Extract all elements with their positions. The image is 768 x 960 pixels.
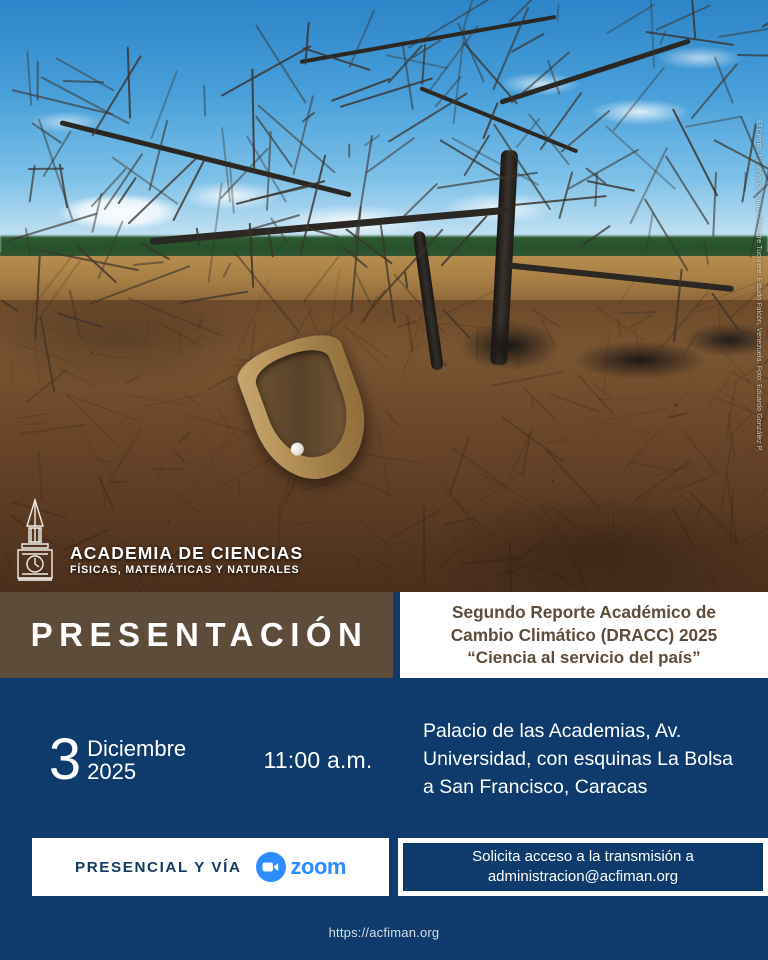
attendance-row: PRESENCIAL Y VÍA zoom Solicita acceso a … xyxy=(0,838,768,900)
access-request-email[interactable]: administracion@acfiman.org xyxy=(488,867,678,887)
academy-logo: ACADEMIA DE CIENCIAS FÍSICAS, MATEMÁTICA… xyxy=(8,498,303,582)
academy-building-logo-icon xyxy=(8,498,62,582)
academy-logo-line2: FÍSICAS, MATEMÁTICAS Y NATURALES xyxy=(70,564,303,576)
website-url[interactable]: https://acfiman.org xyxy=(329,925,440,940)
attendance-mode-box: PRESENCIAL Y VÍA zoom xyxy=(32,838,389,896)
tree-twig xyxy=(37,61,39,101)
attendance-mode-label: PRESENCIAL Y VÍA xyxy=(75,859,242,876)
footer: https://acfiman.org xyxy=(0,905,768,960)
zoom-logo[interactable]: zoom xyxy=(256,852,346,882)
access-request-box[interactable]: Solicita acceso a la transmisión a admin… xyxy=(403,843,763,891)
event-date: 3 Diciembre 2025 xyxy=(49,736,186,784)
mangrove-root-mass xyxy=(430,300,760,420)
event-time-cell: 11:00 a.m. xyxy=(243,686,393,834)
event-day: 3 xyxy=(49,736,80,784)
event-date-cell: 3 Diciembre 2025 xyxy=(0,686,235,834)
presentation-kicker: PRESENTACIÓN xyxy=(25,616,369,654)
poster-canvas: El Cerrito, Reserva de Fauna Silvestre T… xyxy=(0,0,768,960)
report-title-box: Segundo Reporte Académico de Cambio Clim… xyxy=(400,592,768,678)
access-request-frame: Solicita acceso a la transmisión a admin… xyxy=(398,838,768,896)
report-title-line3: “Ciencia al servicio del país” xyxy=(467,647,700,670)
zoom-video-camera-icon xyxy=(256,852,286,882)
event-month: Diciembre xyxy=(87,737,186,760)
academy-logo-text: ACADEMIA DE CIENCIAS FÍSICAS, MATEMÁTICA… xyxy=(70,544,303,582)
report-title-line1: Segundo Reporte Académico de xyxy=(452,601,716,624)
event-venue: Palacio de las Academias, Av. Universida… xyxy=(423,718,746,801)
presentation-kicker-box: PRESENTACIÓN xyxy=(0,592,393,678)
academy-logo-line1: ACADEMIA DE CIENCIAS xyxy=(70,544,303,562)
tree-twig xyxy=(348,143,350,157)
event-year: 2025 xyxy=(87,760,186,783)
zoom-wordmark: zoom xyxy=(291,854,346,880)
event-info-row: 3 Diciembre 2025 11:00 a.m. Palacio de l… xyxy=(0,686,768,834)
tree-twig xyxy=(737,54,768,56)
access-request-line1: Solicita acceso a la transmisión a xyxy=(472,847,694,867)
title-bar: PRESENTACIÓN Segundo Reporte Académico d… xyxy=(0,592,768,678)
report-title-line2: Cambio Climático (DRACC) 2025 xyxy=(451,624,717,647)
event-time: 11:00 a.m. xyxy=(264,747,373,774)
event-venue-cell: Palacio de las Academias, Av. Universida… xyxy=(401,686,768,834)
event-month-year: Diciembre 2025 xyxy=(87,737,186,784)
